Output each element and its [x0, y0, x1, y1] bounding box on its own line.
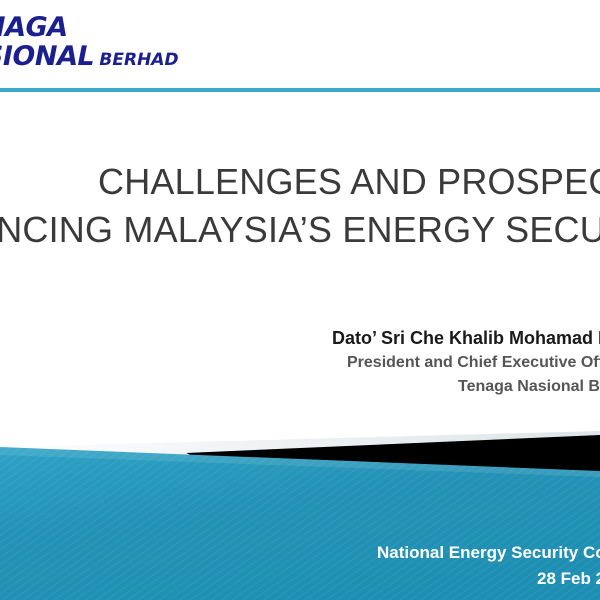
- company-logo: TENAGA NASIONALBERHAD: [0, 0, 600, 92]
- page-title: CHALLENGES AND PROSPECTS ANCING MALAYSIA…: [0, 158, 600, 254]
- speaker-details: Dato’ Sri Che Khalib Mohamad Noh Preside…: [0, 326, 600, 399]
- footer-event-name: National Energy Security Conference: [377, 540, 600, 566]
- footer: National Energy Security Conference 28 F…: [0, 540, 600, 592]
- title-line-2: ANCING MALAYSIA’S ENERGY SECURITY: [0, 206, 600, 254]
- speaker-role: President and Chief Executive Officer: [347, 351, 600, 375]
- header-divider: [0, 88, 600, 92]
- speaker-name: Dato’ Sri Che Khalib Mohamad Noh: [332, 326, 600, 351]
- logo-line-nasional: NASIONALBERHAD: [0, 43, 264, 70]
- footer-date: 28 Feb 2011: [537, 566, 600, 592]
- logo-text-nasional: NASIONAL: [0, 41, 97, 72]
- speaker-organisation: Tenaga Nasional Berhad: [458, 375, 600, 399]
- logo-line-tenaga: TENAGA: [0, 14, 269, 41]
- title-line-1: CHALLENGES AND PROSPECTS: [98, 158, 600, 206]
- logo-text-berhad: BERHAD: [97, 50, 180, 70]
- presentation-title-slide: TENAGA NASIONALBERHAD CHALLENGES AND PRO…: [0, 0, 600, 600]
- logo-wordmark: TENAGA NASIONALBERHAD: [0, 14, 269, 70]
